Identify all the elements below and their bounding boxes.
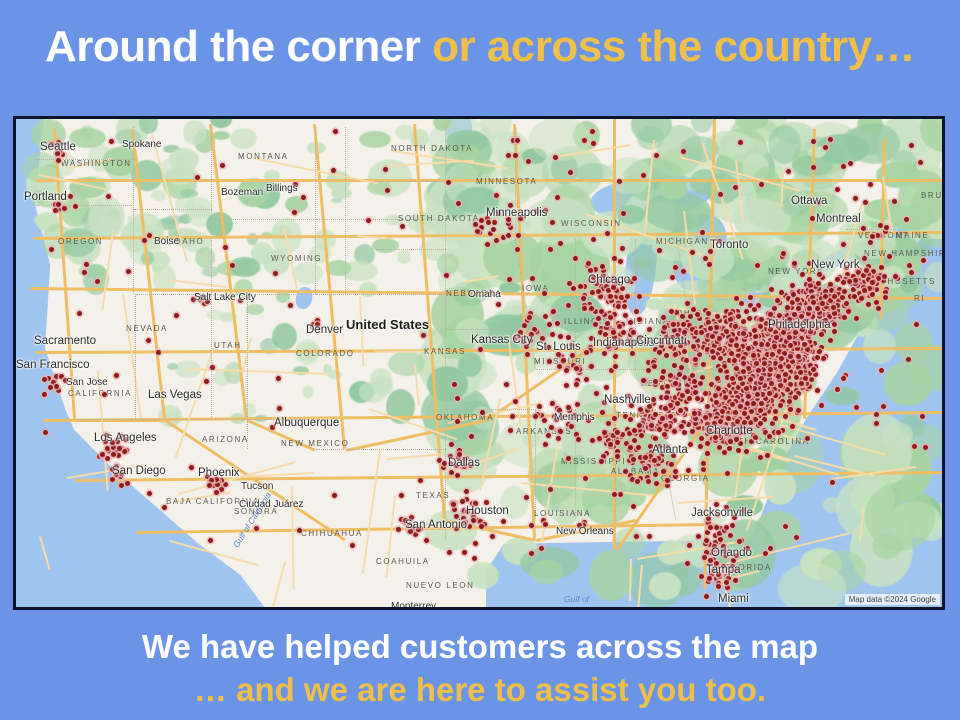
customer-location-dot — [704, 594, 709, 599]
customer-location-dot — [687, 543, 692, 548]
customer-location-dot — [555, 195, 560, 200]
customer-location-dot — [799, 314, 804, 319]
customer-location-dot — [688, 442, 693, 447]
customer-location-dot — [685, 301, 690, 306]
customer-location-dot — [551, 309, 556, 314]
customer-location-dot — [635, 479, 640, 484]
customer-location-dot — [680, 393, 685, 398]
customer-location-dot — [707, 413, 712, 418]
customer-location-dot — [815, 388, 820, 393]
customer-location-dot — [803, 376, 808, 381]
customer-location-dot — [561, 358, 566, 363]
customer-location-dot — [781, 330, 786, 335]
vegetation-blob — [302, 386, 314, 398]
customer-location-dot — [772, 306, 777, 311]
customer-location-dot — [763, 551, 768, 556]
customer-location-dot — [744, 309, 749, 314]
customer-location-dot — [189, 465, 194, 470]
customer-location-dot — [548, 247, 553, 252]
customer-location-dot — [582, 138, 587, 143]
customer-location-dot — [699, 397, 704, 402]
customer-location-dot — [727, 358, 732, 363]
vegetation-blob — [825, 387, 860, 405]
customer-location-dot — [786, 364, 791, 369]
customer-location-dot — [593, 322, 598, 327]
customer-location-dot — [599, 309, 604, 314]
customer-location-dot — [841, 164, 846, 169]
customer-location-dot — [837, 287, 842, 292]
customer-location-dot — [254, 526, 259, 531]
customer-location-dot — [385, 188, 390, 193]
customer-location-dot — [714, 502, 719, 507]
customer-location-dot — [774, 335, 779, 340]
highway-line — [36, 179, 942, 182]
customer-location-dot — [661, 315, 666, 320]
customer-location-dot — [693, 416, 698, 421]
vegetation-blob — [180, 189, 198, 198]
customer-location-dot — [788, 354, 793, 359]
customer-location-dot — [823, 318, 828, 323]
vegetation-blob — [635, 258, 653, 268]
customer-location-dot — [807, 277, 812, 282]
customer-location-dot — [553, 155, 558, 160]
customer-location-dot — [191, 297, 196, 302]
customer-location-dot — [879, 265, 884, 270]
customer-location-dot — [670, 335, 675, 340]
customer-location-dot — [705, 530, 710, 535]
customer-location-dot — [661, 369, 666, 374]
customer-location-dot — [611, 330, 616, 335]
headline-part-white: Around the corner — [45, 22, 432, 71]
customer-location-dot — [807, 261, 812, 266]
vegetation-blob — [165, 166, 196, 185]
state-border-line — [36, 205, 134, 206]
customer-location-dot — [648, 444, 653, 449]
customer-location-dot — [666, 340, 671, 345]
customer-location-dot — [524, 495, 529, 500]
customer-location-dot — [882, 274, 887, 279]
customer-location-dot — [515, 138, 520, 143]
customer-location-dot — [455, 473, 460, 478]
customer-location-dot — [707, 428, 712, 433]
state-border-line — [446, 409, 536, 410]
customer-location-dot — [677, 328, 682, 333]
customer-location-dot — [701, 362, 706, 367]
customer-location-dot — [741, 361, 746, 366]
customer-location-dot — [768, 367, 773, 372]
customer-location-dot — [464, 489, 469, 494]
customer-location-dot — [448, 461, 453, 466]
customer-location-dot — [870, 292, 875, 297]
customer-location-dot — [637, 317, 642, 322]
vegetation-blob — [252, 264, 261, 272]
customer-location-dot — [636, 445, 641, 450]
vegetation-blob — [359, 131, 391, 148]
vegetation-blob — [437, 253, 459, 275]
customer-location-dot — [813, 372, 818, 377]
customer-location-dot — [840, 295, 845, 300]
map-attribution: Map data ©2024 Google — [845, 594, 940, 605]
customer-location-dot — [619, 295, 624, 300]
vegetation-blob — [455, 318, 489, 344]
vegetation-blob — [372, 238, 399, 253]
customer-location-dot — [223, 245, 228, 250]
customer-location-dot — [853, 196, 858, 201]
customer-location-dot — [705, 347, 710, 352]
customer-location-dot — [491, 227, 496, 232]
customer-location-dot — [223, 482, 228, 487]
customer-location-dot — [737, 539, 742, 544]
customer-location-dot — [758, 324, 763, 329]
customer-location-dot — [452, 507, 457, 512]
customer-location-dot — [594, 391, 599, 396]
customer-location-dot — [778, 403, 783, 408]
customer-location-dot — [617, 324, 622, 329]
vegetation-blob — [768, 125, 801, 164]
customer-location-dot — [574, 382, 579, 387]
customer-location-dot — [125, 481, 130, 486]
vegetation-blob — [246, 304, 264, 315]
customer-location-dot — [723, 395, 728, 400]
vegetation-blob — [589, 550, 634, 601]
customer-location-dot — [817, 349, 822, 354]
state-border-line — [212, 219, 316, 220]
customer-location-dot — [845, 272, 850, 277]
customer-location-dot — [853, 278, 858, 283]
customer-location-dot — [479, 524, 484, 529]
customer-location-dot — [557, 364, 562, 369]
customer-location-dot — [817, 272, 822, 277]
customer-location-dot — [84, 262, 89, 267]
customer-location-dot — [654, 481, 659, 486]
customer-location-dot — [506, 233, 511, 238]
customer-location-dot — [630, 477, 635, 482]
customer-location-dot — [811, 139, 816, 144]
customer-location-dot — [605, 231, 610, 236]
customer-location-dot — [598, 294, 603, 299]
vegetation-blob — [167, 363, 178, 370]
customer-location-dot — [727, 446, 732, 451]
customer-location-dot — [752, 386, 757, 391]
customer-location-dot — [605, 321, 610, 326]
customer-location-dot — [722, 450, 727, 455]
customer-location-dot — [835, 387, 840, 392]
vegetation-blob — [726, 137, 767, 163]
customer-location-dot — [708, 525, 713, 530]
customer-location-dot — [761, 367, 766, 372]
customer-location-dot — [524, 344, 529, 349]
customer-location-dot — [783, 414, 788, 419]
customer-location-dot — [752, 307, 757, 312]
customer-location-dot — [578, 284, 583, 289]
customer-location-dot — [717, 346, 722, 351]
customer-location-dot — [746, 366, 751, 371]
country-label: United States — [346, 317, 429, 332]
customer-location-dot — [615, 449, 620, 454]
customer-location-dot — [639, 433, 644, 438]
customer-location-dot — [471, 518, 476, 523]
customer-location-dot — [741, 319, 746, 324]
customer-location-dot — [753, 435, 758, 440]
vegetation-blob — [781, 196, 809, 216]
customer-location-dot — [832, 322, 837, 327]
customer-location-dot — [716, 584, 721, 589]
customer-location-dot — [528, 338, 533, 343]
customer-location-dot — [568, 170, 573, 175]
customer-location-dot — [874, 287, 879, 292]
customer-location-dot — [608, 315, 613, 320]
vegetation-blob — [212, 131, 230, 140]
vegetation-blob — [397, 250, 411, 264]
customer-location-dot — [647, 534, 652, 539]
customer-location-dot — [637, 294, 642, 299]
customer-location-dot — [546, 433, 551, 438]
customer-location-dot — [682, 349, 687, 354]
customer-location-dot — [409, 515, 414, 520]
customer-location-dot — [366, 218, 371, 223]
state-border-line — [76, 419, 316, 420]
customer-location-dot — [835, 277, 840, 282]
vegetation-blob — [424, 510, 477, 551]
customer-location-dot — [696, 411, 701, 416]
customer-location-dot — [518, 216, 523, 221]
customer-location-dot — [721, 564, 726, 569]
vegetation-blob — [89, 196, 125, 239]
customer-location-dot — [775, 298, 780, 303]
customer-location-dot — [522, 323, 527, 328]
customer-location-dot — [783, 372, 788, 377]
customer-location-dot — [613, 364, 618, 369]
vegetation-blob — [195, 247, 215, 268]
customer-location-dot — [724, 369, 729, 374]
customer-location-dot — [446, 180, 451, 185]
customer-location-dot — [602, 351, 607, 356]
customer-location-dot — [455, 396, 460, 401]
state-border-line — [316, 219, 446, 220]
customer-location-dot — [674, 310, 679, 315]
state-border-line — [846, 229, 896, 230]
customer-location-dot — [854, 405, 859, 410]
customer-location-dot — [288, 303, 293, 308]
vegetation-blob — [745, 234, 775, 262]
customer-location-dot — [879, 368, 884, 373]
customer-location-dot — [629, 403, 634, 408]
customer-location-dot — [842, 315, 847, 320]
customer-location-dot — [734, 366, 739, 371]
customer-location-dot — [589, 364, 594, 369]
customer-location-dot — [529, 551, 534, 556]
customer-location-dot — [841, 242, 846, 247]
customer-location-dot — [549, 425, 554, 430]
customer-location-dot — [570, 353, 575, 358]
customer-location-dot — [699, 436, 704, 441]
customer-location-dot — [403, 518, 408, 523]
customer-location-dot — [540, 336, 545, 341]
state-border-line — [133, 127, 134, 294]
customer-location-dot — [659, 395, 664, 400]
customer-location-dot — [718, 356, 723, 361]
customer-location-dot — [659, 339, 664, 344]
vegetation-blob — [524, 197, 592, 245]
customer-location-dot — [230, 263, 235, 268]
customer-location-dot — [506, 217, 511, 222]
customer-location-dot — [457, 452, 462, 457]
vegetation-blob — [865, 482, 935, 551]
state-border-line — [616, 369, 716, 370]
customer-location-dot — [714, 400, 719, 405]
state-border-line — [345, 127, 346, 294]
customer-location-dot — [700, 230, 705, 235]
customer-location-dot — [691, 307, 696, 312]
customer-location-dot — [669, 462, 674, 467]
state-border-line — [134, 209, 212, 210]
customer-location-dot — [208, 538, 213, 543]
customer-location-dot — [620, 246, 625, 251]
customer-location-dot — [723, 427, 728, 432]
customer-location-dot — [626, 394, 631, 399]
customer-location-dot — [717, 336, 722, 341]
customer-location-dot — [643, 466, 648, 471]
customer-location-dot — [715, 376, 720, 381]
customer-location-dot — [566, 405, 571, 410]
customer-location-dot — [724, 329, 729, 334]
customer-location-dot — [668, 414, 673, 419]
customer-location-dot — [799, 381, 804, 386]
customer-location-dot — [724, 525, 729, 530]
customer-location-dot — [628, 417, 633, 422]
customer-location-dot — [478, 347, 483, 352]
vegetation-blob — [456, 187, 499, 214]
customer-location-dot — [529, 332, 534, 337]
customer-location-dot — [876, 276, 881, 281]
customer-location-dot — [627, 339, 632, 344]
customer-location-dot — [142, 238, 147, 243]
customer-location-dot — [762, 383, 767, 388]
customer-location-dot — [808, 329, 813, 334]
vegetation-blob — [152, 266, 162, 273]
customer-location-dot — [586, 261, 591, 266]
customer-location-dot — [590, 290, 595, 295]
state-border-line — [575, 409, 576, 519]
customer-location-dot — [54, 374, 59, 379]
customer-location-dot — [566, 335, 571, 340]
customer-location-dot — [773, 409, 778, 414]
customer-location-dot — [747, 316, 752, 321]
customer-location-dot — [876, 306, 881, 311]
state-border-line — [211, 127, 212, 299]
customer-location-dot — [690, 250, 695, 255]
customer-location-dot — [110, 477, 115, 482]
customer-location-dot — [452, 382, 457, 387]
customer-location-dot — [548, 487, 553, 492]
customer-location-dot — [623, 313, 628, 318]
customer-location-dot — [670, 275, 675, 280]
customer-location-dot — [637, 423, 642, 428]
customer-location-dot — [729, 351, 734, 356]
vegetation-blob — [582, 476, 631, 525]
customer-location-dot — [479, 225, 484, 230]
state-border-line — [316, 449, 446, 450]
vegetation-blob — [80, 125, 94, 140]
customer-location-dot — [665, 390, 670, 395]
customer-location-dot — [475, 229, 480, 234]
customer-location-dot — [276, 376, 281, 381]
vegetation-blob — [230, 128, 257, 149]
customer-location-dot — [681, 269, 686, 274]
customer-location-dot — [460, 499, 465, 504]
customer-location-dot — [532, 327, 537, 332]
customer-location-dot — [147, 233, 152, 238]
vegetation-blob — [183, 120, 207, 145]
customer-location-dot — [467, 524, 472, 529]
customer-location-dot — [647, 327, 652, 332]
customer-location-dot — [103, 439, 108, 444]
customer-location-dot — [832, 329, 837, 334]
state-border-line — [316, 294, 446, 295]
customer-location-dot — [841, 280, 846, 285]
customer-location-dot — [740, 381, 745, 386]
customer-location-dot — [874, 421, 879, 426]
customer-location-dot — [623, 469, 628, 474]
customer-location-dot — [102, 392, 107, 397]
customer-location-dot — [695, 312, 700, 317]
customer-location-dot — [608, 442, 613, 447]
customer-location-dot — [748, 420, 753, 425]
state-border-line — [376, 181, 446, 182]
customer-location-dot — [742, 337, 747, 342]
vegetation-blob — [646, 298, 665, 310]
map-container[interactable]: WASHINGTONOREGONIDAHOMONTANAWYOMINGNEVAD… — [13, 116, 945, 610]
customer-location-dot — [468, 463, 473, 468]
customer-location-dot — [472, 556, 477, 561]
map-canvas[interactable]: WASHINGTONOREGONIDAHOMONTANAWYOMINGNEVAD… — [16, 119, 942, 607]
state-border-line — [615, 409, 616, 519]
state-border-line — [135, 294, 136, 419]
customer-location-dot — [572, 413, 577, 418]
customer-location-dot — [533, 414, 538, 419]
customer-location-dot — [777, 313, 782, 318]
customer-location-dot — [82, 270, 87, 275]
customer-location-dot — [811, 300, 816, 305]
customer-location-dot — [609, 368, 614, 373]
customer-location-dot — [681, 322, 686, 327]
customer-location-dot — [207, 483, 212, 488]
customer-location-dot — [728, 439, 733, 444]
customer-location-dot — [332, 493, 337, 498]
customer-location-dot — [679, 365, 684, 370]
customer-location-dot — [918, 160, 923, 165]
state-border-line — [446, 329, 536, 330]
customer-location-dot — [726, 416, 731, 421]
customer-location-dot — [767, 372, 772, 377]
customer-location-dot — [854, 316, 859, 321]
state-border-line — [445, 419, 446, 539]
customer-location-dot — [714, 325, 719, 330]
customer-location-dot — [589, 336, 594, 341]
customer-location-dot — [350, 543, 355, 548]
customer-location-dot — [616, 304, 621, 309]
customer-location-dot — [574, 432, 579, 437]
customer-location-dot — [713, 435, 718, 440]
customer-location-dot — [716, 572, 721, 577]
customer-location-dot — [749, 439, 754, 444]
customer-location-dot — [805, 436, 810, 441]
customer-location-dot — [662, 432, 667, 437]
customer-location-dot — [800, 272, 805, 277]
customer-location-dot — [668, 373, 673, 378]
customer-location-dot — [722, 549, 727, 554]
customer-location-dot — [736, 314, 741, 319]
